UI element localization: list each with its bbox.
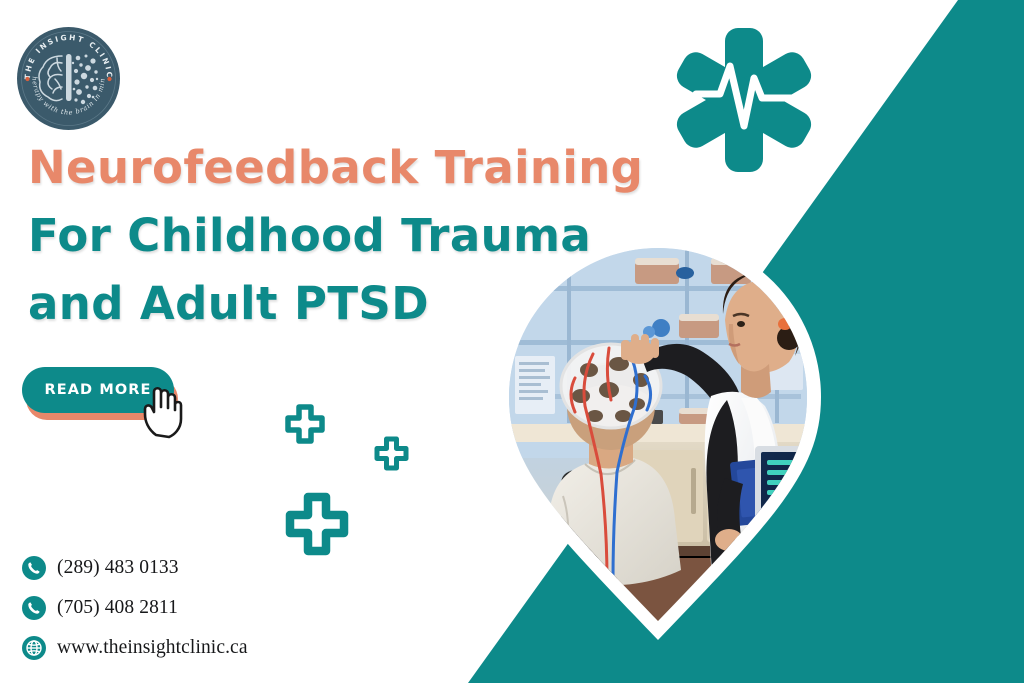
contact-row-phone-1[interactable]: (289) 483 0133: [22, 548, 248, 588]
contact-info: (289) 483 0133 (705) 408 2811 www.thei: [22, 548, 248, 668]
headline-line-1: Neurofeedback Training: [28, 134, 668, 202]
the-insight-clinic-logo[interactable]: THE INSIGHT CLINIC therapy with the brai…: [17, 27, 120, 130]
headline-line-2: For Childhood Trauma: [28, 202, 668, 270]
page-title: Neurofeedback Training For Childhood Tra…: [28, 134, 668, 338]
phone-number-1: (289) 483 0133: [57, 557, 179, 579]
read-more-button[interactable]: READ MORE: [22, 367, 174, 413]
star-of-life-icon: [668, 26, 820, 174]
website-url: www.theinsightclinic.ca: [57, 637, 248, 659]
read-more-cta-group: READ MORE: [22, 367, 197, 437]
medical-plus-icon-large: [285, 492, 349, 556]
phone-icon: [22, 596, 46, 620]
headline-line-3: and Adult PTSD: [28, 270, 668, 338]
medical-plus-icon-small-top: [285, 404, 325, 444]
contact-row-phone-2[interactable]: (705) 408 2811: [22, 588, 248, 628]
medical-plus-icon-smaller: [374, 436, 409, 471]
promo-banner: THE INSIGHT CLINIC therapy with the brai…: [0, 0, 1024, 683]
phone-icon: [22, 556, 46, 580]
contact-row-website[interactable]: www.theinsightclinic.ca: [22, 628, 248, 668]
phone-number-2: (705) 408 2811: [57, 597, 178, 619]
globe-icon: [22, 636, 46, 660]
